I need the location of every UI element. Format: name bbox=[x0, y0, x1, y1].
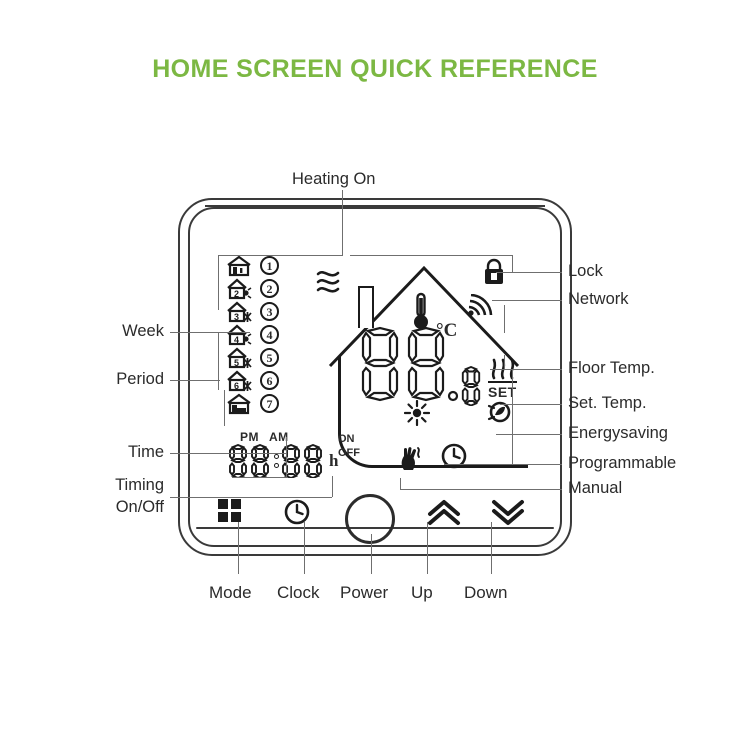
leader-programmable bbox=[444, 464, 562, 465]
callout-onoff: On/Off bbox=[98, 498, 164, 517]
week-day-3: 3 bbox=[260, 302, 279, 321]
bracket-week-left bbox=[218, 255, 219, 310]
clock-icon bbox=[440, 442, 468, 470]
house-sleep-icon bbox=[226, 393, 252, 415]
svg-text:2: 2 bbox=[234, 289, 239, 299]
timing-onoff-indicator: ON OFF bbox=[338, 432, 360, 460]
period-week-row: 2 2 bbox=[226, 277, 294, 300]
temperature-unit: °C bbox=[436, 320, 457, 342]
leader-energysaving bbox=[496, 434, 562, 435]
leader-clock bbox=[304, 522, 305, 574]
week-period-column: 1 2 2 bbox=[226, 254, 294, 415]
callout-energysaving: Energysaving bbox=[568, 424, 668, 443]
bracket-floor-temp-vert bbox=[504, 355, 505, 369]
house-period-5-icon: 5 bbox=[226, 347, 252, 369]
chevron-double-down-icon bbox=[491, 498, 525, 526]
thermostat-top-edge bbox=[205, 205, 545, 207]
svg-text:5: 5 bbox=[234, 358, 239, 368]
svg-text:3: 3 bbox=[234, 312, 239, 322]
leader-manual bbox=[400, 489, 562, 490]
leader-mode bbox=[238, 522, 239, 574]
house-period-4-icon: 4 bbox=[226, 324, 252, 346]
period-week-row: 1 bbox=[226, 254, 294, 277]
week-day-4: 4 bbox=[260, 325, 279, 344]
clock-icon bbox=[283, 498, 311, 526]
callout-set-temp: Set. Temp. bbox=[568, 394, 647, 413]
floor-heat-icon bbox=[488, 356, 518, 380]
callout-lock: Lock bbox=[568, 262, 603, 281]
callout-floor-temp: Floor Temp. bbox=[568, 359, 655, 378]
decimal-digit bbox=[461, 366, 481, 411]
leader-floor-temp bbox=[490, 369, 562, 370]
down-button[interactable] bbox=[491, 498, 531, 540]
callout-down: Down bbox=[464, 583, 507, 603]
time-digits: h ON OFF bbox=[228, 444, 378, 478]
week-day-6: 6 bbox=[260, 371, 279, 390]
callout-week: Week bbox=[112, 322, 164, 341]
leader-timing-onoff-vert bbox=[332, 476, 333, 497]
callout-power: Power bbox=[340, 583, 388, 603]
leader-up bbox=[427, 522, 428, 574]
house-period-2-icon: 2 bbox=[226, 278, 252, 300]
period-week-row: 6 6 bbox=[226, 369, 294, 392]
bracket-period-vert bbox=[224, 390, 225, 426]
wifi-icon bbox=[467, 294, 493, 316]
bracket-heating-top-left bbox=[218, 255, 342, 256]
eco-leaf-icon bbox=[486, 398, 514, 426]
bracket-time-bottom bbox=[232, 477, 288, 478]
callout-mode: Mode bbox=[209, 583, 252, 603]
leader-timing-onoff bbox=[170, 497, 332, 498]
lcd-display: 1 2 2 bbox=[218, 248, 528, 493]
house-period-1-icon bbox=[226, 255, 252, 277]
quick-reference-page: HOME SCREEN QUICK REFERENCE 1 bbox=[0, 0, 750, 750]
bracket-time-vert bbox=[286, 453, 287, 477]
period-week-row: 3 3 bbox=[226, 300, 294, 323]
off-label: OFF bbox=[338, 446, 360, 460]
bracket-right-gap bbox=[504, 305, 505, 333]
callout-clock: Clock bbox=[277, 583, 320, 603]
up-button[interactable] bbox=[427, 498, 467, 540]
power-circle-icon bbox=[345, 494, 395, 544]
bracket-lock-vert bbox=[512, 255, 513, 273]
hand-icon bbox=[398, 444, 424, 472]
leader-week bbox=[170, 332, 250, 333]
button-row bbox=[205, 498, 545, 543]
leader-lock bbox=[496, 272, 562, 273]
period-week-row: 7 bbox=[226, 392, 294, 415]
bracket-programmable-vert bbox=[512, 369, 513, 464]
house-period-6-icon: 6 bbox=[226, 370, 252, 392]
page-title: HOME SCREEN QUICK REFERENCE bbox=[0, 55, 750, 84]
week-day-5: 5 bbox=[260, 348, 279, 367]
svg-text:6: 6 bbox=[234, 381, 239, 391]
house-period-3-icon: 3 bbox=[226, 301, 252, 323]
sun-icon bbox=[404, 400, 430, 426]
pm-label: PM bbox=[240, 430, 259, 444]
clock-button[interactable] bbox=[283, 498, 323, 540]
leader-network bbox=[492, 300, 562, 301]
callout-heating-on: Heating On bbox=[292, 170, 375, 189]
leader-down bbox=[491, 522, 492, 574]
bracket-time-vert-top bbox=[286, 437, 287, 453]
callout-network: Network bbox=[568, 290, 629, 309]
time-minutes-digits bbox=[281, 444, 325, 478]
period-week-row: 5 5 bbox=[226, 346, 294, 369]
grid-icon bbox=[217, 498, 243, 524]
callout-manual: Manual bbox=[568, 479, 622, 498]
week-day-7: 7 bbox=[260, 394, 279, 413]
leader-time bbox=[170, 453, 286, 454]
mode-button[interactable] bbox=[217, 498, 257, 540]
callout-up: Up bbox=[411, 583, 433, 603]
time-hours-digits bbox=[228, 444, 272, 478]
leader-power bbox=[371, 534, 372, 574]
week-day-1: 1 bbox=[260, 256, 279, 275]
leader-period bbox=[170, 380, 220, 381]
callout-time: Time bbox=[112, 443, 164, 462]
leader-set-temp bbox=[500, 404, 562, 405]
week-day-2: 2 bbox=[260, 279, 279, 298]
leader-heating-on bbox=[342, 190, 343, 256]
on-label: ON bbox=[338, 432, 360, 446]
callout-timing: Timing bbox=[98, 476, 164, 495]
svg-text:4: 4 bbox=[234, 335, 239, 345]
time-colon bbox=[274, 452, 279, 470]
callout-programmable: Programmable bbox=[568, 454, 676, 473]
chimney-icon bbox=[358, 286, 374, 328]
chevron-double-up-icon bbox=[427, 498, 461, 526]
callout-period: Period bbox=[98, 370, 164, 389]
bracket-heating-top-right bbox=[350, 255, 512, 256]
period-week-row: 4 4 bbox=[226, 323, 294, 346]
leader-manual-vert bbox=[400, 478, 401, 490]
